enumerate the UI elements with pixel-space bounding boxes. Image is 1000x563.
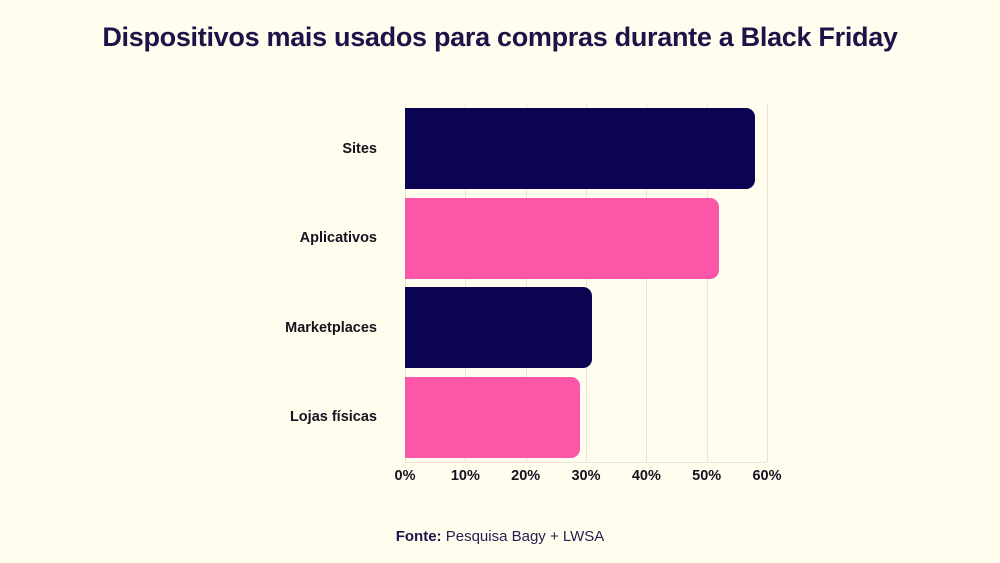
source-text: Pesquisa Bagy + LWSA — [446, 528, 605, 545]
y-axis-label-lojas-físicas: Lojas físicas — [0, 377, 393, 458]
chart-figure: Dispositivos mais usados para compras du… — [0, 0, 1000, 563]
x-tick-label: 40% — [632, 468, 661, 484]
bar-series — [405, 104, 767, 462]
x-tick-label: 20% — [511, 468, 540, 484]
bar-row — [405, 287, 767, 368]
bar-lojas-físicas — [405, 377, 580, 458]
bar-row — [405, 377, 767, 458]
bar-marketplaces — [405, 287, 592, 368]
source-note: Fonte: Pesquisa Bagy + LWSA — [0, 528, 1000, 545]
bar-row — [405, 198, 767, 279]
gridline-60 — [767, 104, 768, 462]
plot-area — [405, 104, 767, 462]
y-axis-label-aplicativos: Aplicativos — [0, 198, 393, 279]
x-tick-label: 60% — [752, 468, 781, 484]
x-tick-label: 10% — [451, 468, 480, 484]
x-tick-label: 50% — [692, 468, 721, 484]
y-axis-label-marketplaces: Marketplaces — [0, 287, 393, 368]
source-label: Fonte: — [396, 528, 442, 545]
bar-row — [405, 108, 767, 189]
page-title: Dispositivos mais usados para compras du… — [0, 22, 1000, 53]
bar-sites — [405, 108, 755, 189]
y-axis-labels: SitesAplicativosMarketplacesLojas física… — [0, 104, 393, 462]
y-axis-label-sites: Sites — [0, 108, 393, 189]
x-tick-label: 30% — [571, 468, 600, 484]
x-axis-ticks: 0%10%20%30%40%50%60% — [405, 468, 767, 490]
x-tick-label: 0% — [395, 468, 416, 484]
bar-aplicativos — [405, 198, 719, 279]
x-axis-line — [405, 462, 767, 463]
